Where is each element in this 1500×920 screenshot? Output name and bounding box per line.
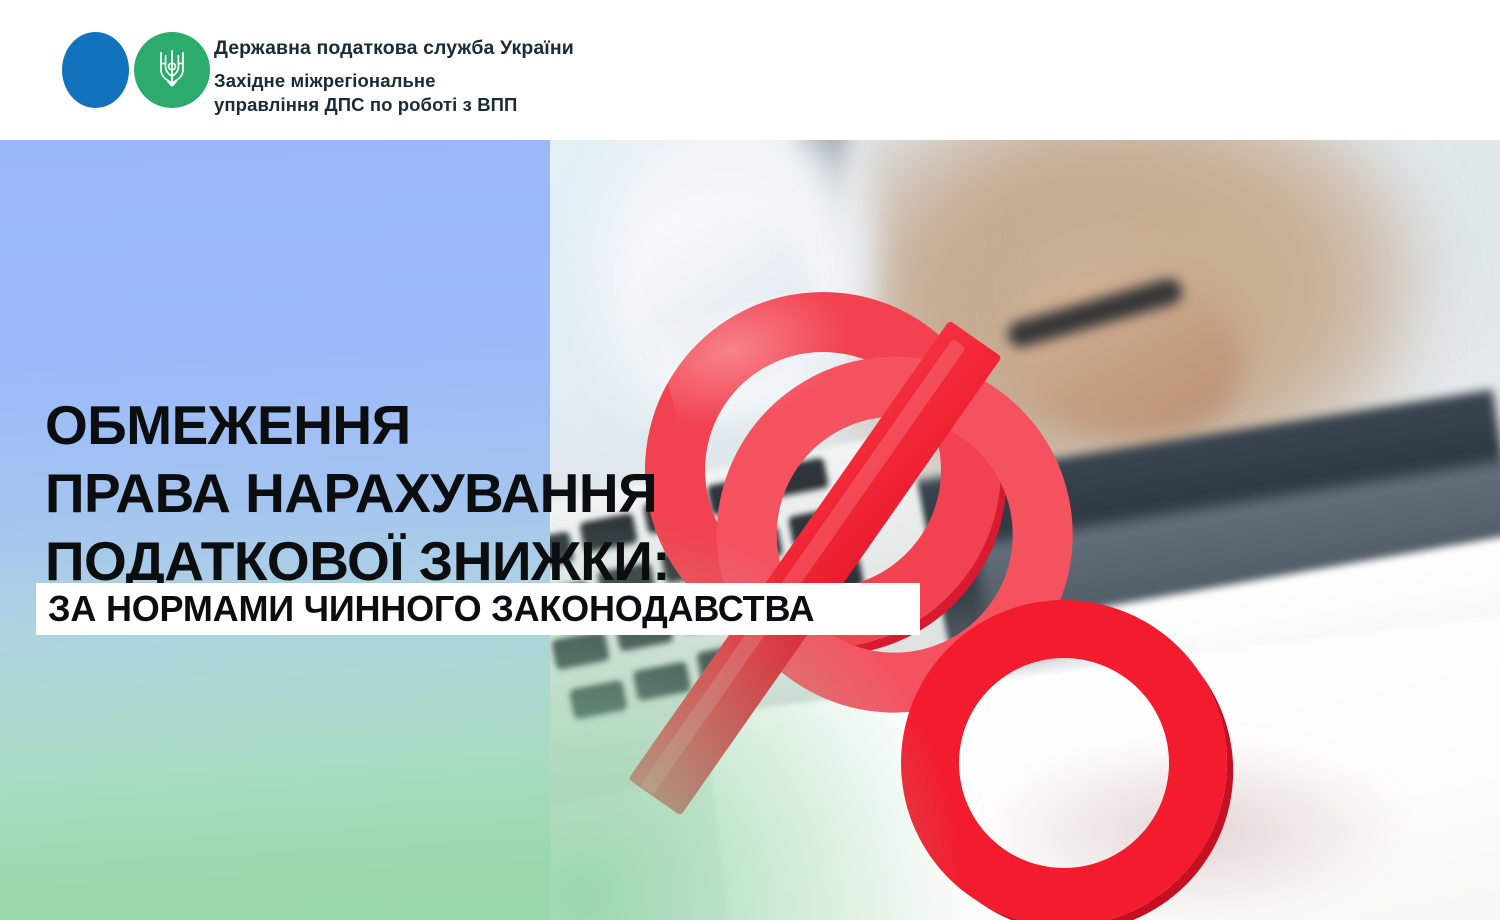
header-text-block: Державна податкова служба України Західн… <box>214 36 574 117</box>
hero-photo <box>550 140 1500 920</box>
photo-content <box>550 140 1500 920</box>
organization-name: Державна податкова служба України <box>214 36 574 60</box>
subtitle-text: ЗА НОРМАМИ ЧИННОГО ЗАКОНОДАВСТВА <box>36 591 814 627</box>
headline-line-3: ПОДАТКОВОЇ ЗНИЖКИ: <box>45 534 670 589</box>
blue-circle-icon <box>62 32 129 108</box>
poster-root: Державна податкова служба України Західн… <box>0 0 1500 920</box>
department-name-line1: Західне міжрегіональне <box>214 69 574 93</box>
green-circle-trident-icon <box>134 32 210 108</box>
headline-line-1: ОБМЕЖЕННЯ <box>45 398 670 453</box>
agency-logo <box>62 32 202 108</box>
subtitle-band: ЗА НОРМАМИ ЧИННОГО ЗАКОНОДАВСТВА <box>36 583 920 635</box>
hero-banner: ОБМЕЖЕННЯ ПРАВА НАРАХУВАННЯ ПОДАТКОВОЇ З… <box>0 140 1500 920</box>
department-name-line2: управління ДПС по роботі з ВПП <box>214 93 574 117</box>
headline-line-2: ПРАВА НАРАХУВАННЯ <box>45 466 670 521</box>
header-bar: Державна податкова служба України Західн… <box>0 0 1500 140</box>
headline-block: ОБМЕЖЕННЯ ПРАВА НАРАХУВАННЯ ПОДАТКОВОЇ З… <box>45 398 670 589</box>
